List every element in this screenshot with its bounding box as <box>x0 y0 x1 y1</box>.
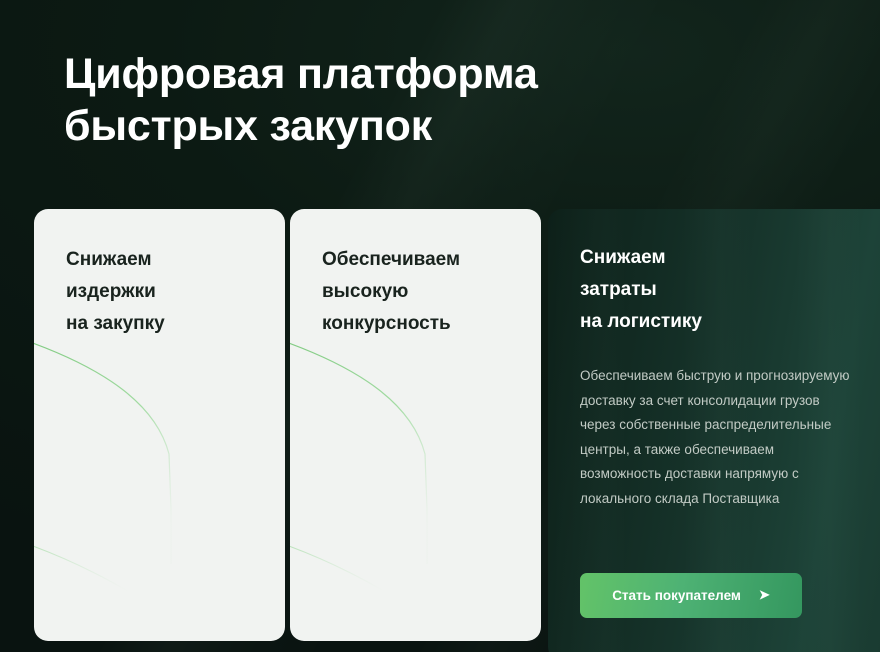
feature-card-competition[interactable]: Обеспечиваем высокую конкурсность <box>290 209 541 641</box>
feature-card-title: Обеспечиваем высокую конкурсность <box>322 244 460 340</box>
feature-card-title: Снижаем издержки на закупку <box>66 244 165 340</box>
page-title: Цифровая платформа быстрых закупок <box>64 48 704 152</box>
feature-card-logistics[interactable]: Снижаем затраты на логистику Обеспечивае… <box>548 209 880 652</box>
feature-card-title: Снижаем затраты на логистику <box>580 242 702 338</box>
become-buyer-label: Стать покупателем <box>612 588 741 603</box>
feature-card-description: Обеспечиваем быструю и прогнозируемую до… <box>580 364 852 511</box>
arrow-right-icon: ➤ <box>759 588 770 601</box>
become-buyer-button[interactable]: Стать покупателем ➤ <box>580 573 802 618</box>
feature-card-costs[interactable]: Снижаем издержки на закупку <box>34 209 285 641</box>
